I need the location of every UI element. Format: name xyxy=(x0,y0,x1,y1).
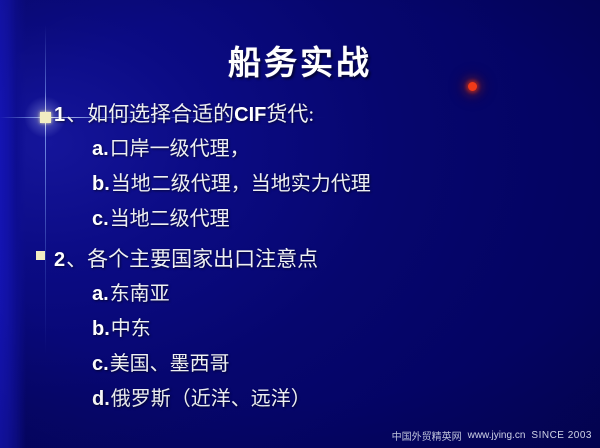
footer-site-name: 中国外贸精英网 xyxy=(392,428,462,443)
list-item-letter: c. xyxy=(92,208,109,231)
list-item-letter: b. xyxy=(92,173,110,196)
list-item-number: 1 xyxy=(54,104,65,127)
list-item: b. 中东 xyxy=(0,312,600,347)
list-item-text: 各个主要国家出口注意点 xyxy=(87,243,318,273)
list-item-letter: a. xyxy=(92,138,109,161)
footer-since: SINCE 2003 xyxy=(531,430,592,441)
list-item: b. 当地二级代理，当地实力代理 xyxy=(0,167,600,202)
list-item-text: 当地二级代理，当地实力代理 xyxy=(111,167,371,196)
list-item: c. 当地二级代理 xyxy=(0,202,600,237)
list-item-text: 当地二级代理 xyxy=(110,202,230,231)
list-item: 1 、 如何选择合适的 CIF 货代: xyxy=(0,98,600,132)
list-item: a. 口岸一级代理， xyxy=(0,132,600,167)
slide-title: 船务实战 xyxy=(0,36,600,84)
footer-url: www.jying.cn xyxy=(468,430,526,441)
presentation-slide: 船务实战 1 、 如何选择合适的 CIF 货代: a. 口岸一级代理， b. 当… xyxy=(0,0,600,448)
list-item-text: 俄罗斯（近洋、远洋） xyxy=(111,382,311,411)
list-item: 2 、 各个主要国家出口注意点 xyxy=(0,243,600,277)
list-item: a. 东南亚 xyxy=(0,277,600,312)
list-item: d. 俄罗斯（近洋、远洋） xyxy=(0,382,600,417)
list-item-letter: c. xyxy=(92,353,109,376)
list-item-letter: a. xyxy=(92,283,109,306)
list-item-text: 东南亚 xyxy=(110,277,170,306)
list-item-latin-term: CIF xyxy=(234,104,266,127)
list-item: c. 美国、墨西哥 xyxy=(0,347,600,382)
footer-watermark: 中国外贸精英网 www.jying.cn SINCE 2003 xyxy=(392,428,592,443)
list-item-number-separator: 、 xyxy=(66,98,87,128)
list-item-text: 如何选择合适的 xyxy=(87,98,234,128)
list-item-number-separator: 、 xyxy=(66,243,87,273)
list-item-text: 口岸一级代理， xyxy=(110,132,250,161)
list-item-text-tail: 货代: xyxy=(266,98,314,128)
list-item-number: 2 xyxy=(54,249,65,272)
list-item-text: 中东 xyxy=(111,312,151,341)
list-item-letter: d. xyxy=(92,388,110,411)
list-item-text: 美国、墨西哥 xyxy=(110,347,230,376)
slide-content-list: 1 、 如何选择合适的 CIF 货代: a. 口岸一级代理， b. 当地二级代理… xyxy=(0,98,600,417)
list-item-letter: b. xyxy=(92,318,110,341)
bullet-square-icon xyxy=(36,251,45,260)
